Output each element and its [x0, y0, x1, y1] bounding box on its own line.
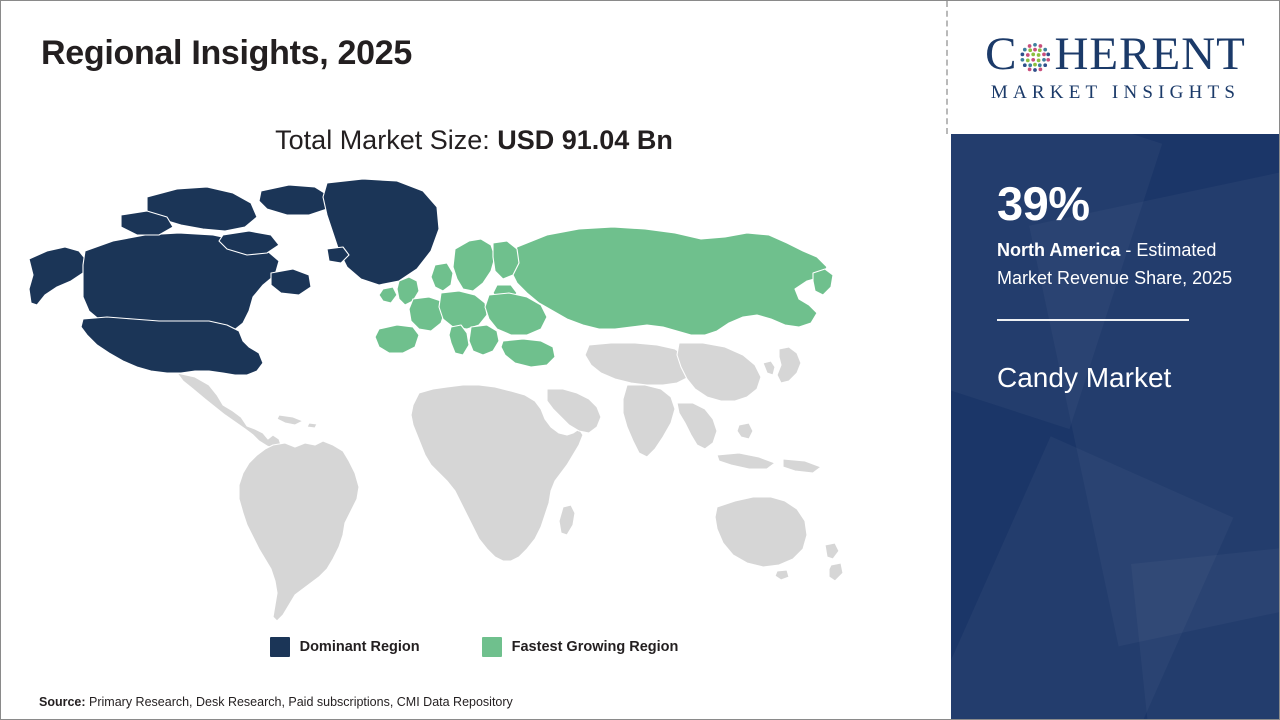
brand-logo: C	[951, 1, 1280, 134]
square-swatch-icon	[270, 637, 290, 657]
panel-decor-shape	[1131, 545, 1280, 719]
legend-label-fastest-growing: Fastest Growing Region	[512, 639, 679, 655]
source-note: Source: Primary Research, Desk Research,…	[39, 695, 513, 709]
total-market-size-value: USD 91.04 Bn	[497, 125, 673, 155]
legend-label-dominant: Dominant Region	[300, 639, 420, 655]
logo-wordmark: C	[985, 31, 1246, 78]
map-legend: Dominant Region Fastest Growing Region	[41, 637, 907, 657]
left-content-pane: Regional Insights, 2025 Total Market Siz…	[1, 1, 947, 719]
source-text: Primary Research, Desk Research, Paid su…	[89, 695, 513, 709]
legend-item-dominant: Dominant Region	[270, 637, 420, 657]
highlight-panel: 39% North America - Estimated Market Rev…	[951, 134, 1280, 719]
dotted-globe-icon	[1017, 40, 1053, 76]
logo-tagline: MARKET INSIGHTS	[991, 82, 1240, 104]
share-region-name: North America	[997, 240, 1120, 260]
logo-letter-c: C	[985, 31, 1017, 78]
legend-item-fastest-growing: Fastest Growing Region	[482, 637, 679, 657]
map-region-dominant	[29, 179, 439, 375]
infographic-slide: Regional Insights, 2025 Total Market Siz…	[0, 0, 1280, 720]
share-percentage: 39%	[997, 179, 1240, 228]
world-map-svg	[27, 177, 847, 627]
logo-word-rest: HERENT	[1054, 31, 1245, 78]
market-name: Candy Market	[997, 361, 1240, 395]
world-map	[27, 177, 847, 627]
map-region-other	[177, 343, 843, 621]
total-market-size: Total Market Size: USD 91.04 Bn	[41, 125, 907, 156]
total-market-size-label: Total Market Size:	[275, 125, 490, 155]
square-swatch-icon	[482, 637, 502, 657]
share-description: North America - Estimated Market Revenue…	[997, 237, 1240, 293]
source-label: Source:	[39, 695, 86, 709]
panel-divider	[997, 319, 1189, 321]
vertical-dashed-divider	[946, 1, 948, 134]
page-title: Regional Insights, 2025	[41, 34, 412, 73]
panel-content: 39% North America - Estimated Market Rev…	[951, 134, 1280, 395]
